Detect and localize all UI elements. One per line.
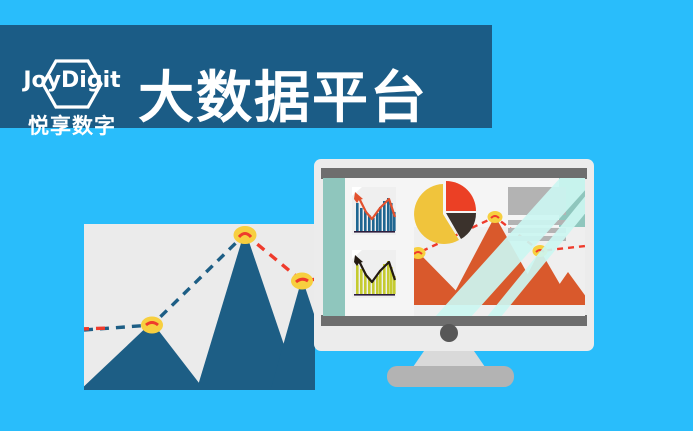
card-blue-axis <box>354 231 395 233</box>
logo-wordmark: JoyDigit <box>18 70 126 92</box>
page-title: 大数据平台 <box>138 69 428 129</box>
teal-strip-left <box>323 178 345 316</box>
monitor-camera-dot <box>440 324 458 342</box>
bar-line-card-blue <box>352 187 396 235</box>
logo-subtitle: 悦享数字 <box>18 114 126 138</box>
illustration-canvas: JoyDigit 悦享数字 大数据平台 <box>0 0 693 431</box>
monitor-top-band <box>321 168 587 179</box>
monitor-bottom-band <box>321 315 587 326</box>
left-marker-1 <box>141 317 163 334</box>
header-banner: JoyDigit 悦享数字 大数据平台 <box>0 25 492 128</box>
bar-line-card-olive <box>352 250 396 298</box>
logo[interactable]: JoyDigit 悦享数字 <box>18 58 126 146</box>
left-marker-3 <box>291 273 313 290</box>
monitor-stand-neck <box>413 351 485 367</box>
monitor-stand-base <box>387 366 514 387</box>
screen-content <box>323 178 614 318</box>
card-olive-axis <box>354 294 395 296</box>
left-chart-panel <box>78 224 340 392</box>
